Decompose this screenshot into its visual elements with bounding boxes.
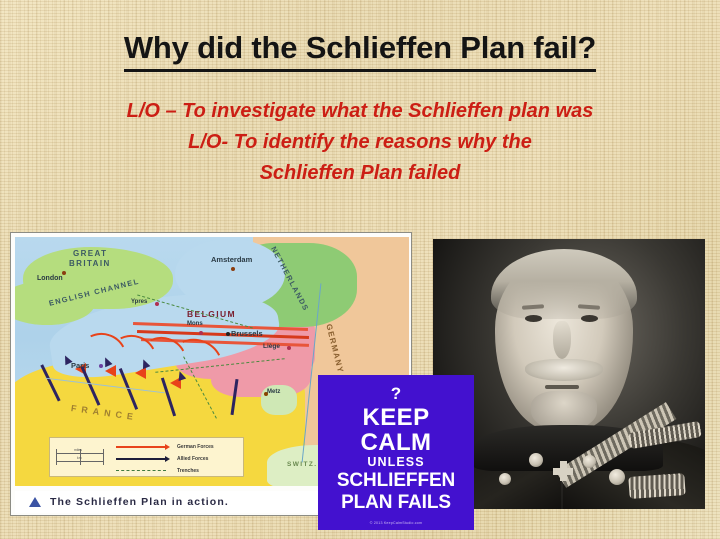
poster-credit: © 2013 KeepCalmStudio.com — [318, 521, 474, 525]
map-scale-tick-0 — [56, 449, 57, 465]
legend-row-trenches: Trenches — [54, 465, 239, 476]
map-legend: miles km German Forces Allied Forces Tre… — [49, 437, 244, 477]
legend-label-trenches: Trenches — [177, 468, 199, 474]
portrait-medal-1 — [529, 453, 543, 467]
map-scale-label-km: km — [77, 456, 82, 460]
map-scale-label-miles: miles — [74, 448, 82, 452]
german-arrow-head-2 — [105, 365, 116, 377]
iron-cross-icon — [553, 461, 573, 481]
poster-line-unless: UNLESS — [318, 455, 474, 470]
map-scale-bar: miles km — [56, 448, 108, 466]
triangle-icon — [29, 497, 41, 507]
map-city-dot-liege — [287, 346, 291, 350]
map-label-paris: Paris — [71, 361, 89, 370]
portrait-eye-left — [525, 315, 542, 322]
poster-question-mark: ? — [318, 385, 474, 402]
map-label-brussels: Brussels — [231, 329, 263, 338]
legend-symbol-german — [116, 442, 172, 451]
portrait-medal-2 — [583, 455, 596, 468]
page-title-text: Why did the Schlieffen Plan fail? — [124, 30, 596, 72]
german-arrow-head-3 — [135, 367, 146, 379]
map-city-dot-metz — [264, 392, 268, 396]
portrait-braid — [628, 473, 685, 499]
map-caption-text: The Schlieffen Plan in action. — [50, 496, 229, 508]
map-city-dot-ypres — [155, 302, 159, 306]
portrait-eye-right — [581, 315, 598, 322]
learning-objectives: L/O – To investigate what the Schlieffen… — [0, 96, 720, 189]
map-label-amsterdam: Amsterdam — [211, 255, 252, 264]
map-label-ypres: Ypres — [131, 299, 147, 305]
map-city-dot-brussels — [226, 332, 230, 336]
map-label-great-britain: GREAT — [73, 249, 107, 258]
poster-line-plan-fails: PLAN FAILS — [318, 492, 474, 514]
legend-symbol-allied — [116, 454, 172, 463]
poster-line-schlieffen: SCHLIEFFEN — [318, 470, 474, 492]
map-city-dot-london — [62, 271, 66, 275]
map-label-mons: Mons — [187, 321, 203, 327]
portrait-medal-4 — [499, 473, 511, 485]
map-label-london: London — [37, 275, 63, 282]
legend-label-allied-forces: Allied Forces — [177, 456, 208, 462]
portrait-mouth — [545, 385, 579, 389]
portrait-moustache — [525, 359, 603, 381]
legend-label-german-forces: German Forces — [177, 444, 214, 450]
map-city-dot-mons — [199, 331, 203, 335]
map-city-dot-amsterdam — [231, 267, 235, 271]
map-city-dot-paris — [99, 364, 103, 368]
keep-calm-poster: ? KEEP CALM UNLESS SCHLIEFFEN PLAN FAILS… — [318, 375, 474, 530]
objective-line-2: L/O- To identify the reasons why the — [0, 127, 720, 158]
objective-line-1: L/O – To investigate what the Schlieffen… — [0, 96, 720, 127]
legend-symbol-trenches — [116, 466, 172, 475]
objective-line-3: Schlieffen Plan failed — [0, 158, 720, 189]
map-label-liege: Liège — [263, 343, 280, 350]
map-scale-tick-max — [103, 449, 104, 465]
slide-canvas: Why did the Schlieffen Plan fail? L/O – … — [0, 0, 720, 539]
page-title: Why did the Schlieffen Plan fail? — [0, 30, 720, 72]
map-label-great-britain-2: BRITAIN — [69, 259, 111, 268]
map-label-metz: Metz — [267, 389, 280, 395]
portrait-medal-3 — [609, 469, 625, 485]
poster-line-keep: KEEP — [318, 405, 474, 430]
poster-line-calm: CALM — [318, 430, 474, 455]
portrait-nose — [553, 321, 571, 359]
